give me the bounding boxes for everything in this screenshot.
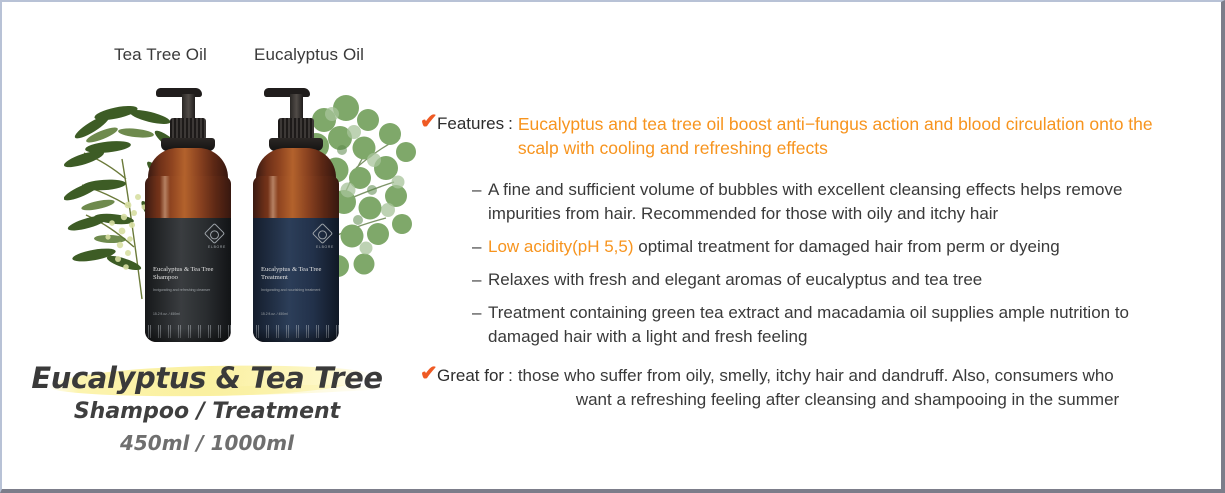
- product-subtitle: Shampoo / Treatment: [2, 396, 412, 428]
- bullet-highlight: Low acidity(pH 5,5): [488, 237, 634, 256]
- brand-name: ELBORE: [316, 245, 334, 249]
- product-visual-panel: Tea Tree Oil Eucalyptus Oil: [2, 2, 412, 487]
- pump-nozzle-icon: [156, 88, 202, 97]
- bottle-bottom-shadow: [253, 328, 339, 342]
- label-product-variant: Treatment: [261, 274, 288, 281]
- great-for-section: ✔ Great for : those who suffer from oily…: [420, 364, 1180, 412]
- list-item: – A fine and sufficient volume of bubble…: [472, 178, 1182, 226]
- bottle-treatment: ELBORE Eucalyptus & Tea Tree Treatment I…: [250, 88, 342, 343]
- caption-eucalyptus-oil: Eucalyptus Oil: [254, 45, 364, 65]
- list-item: – Relaxes with fresh and elegant aromas …: [472, 268, 1182, 292]
- bullet-dash: –: [472, 268, 488, 292]
- great-for-label: Great for: [437, 364, 504, 412]
- pump-collar: [278, 118, 314, 140]
- bullet-text: Relaxes with fresh and elegant aromas of…: [488, 268, 982, 292]
- label-description: Invigorating and refreshing cleanser: [153, 288, 210, 293]
- features-colon: :: [504, 112, 518, 160]
- product-copy-panel: ✔ Features : Eucalyptus and tea tree oil…: [417, 2, 1207, 487]
- caption-tea-tree-oil: Tea Tree Oil: [114, 45, 207, 65]
- bottle-body: ELBORE Eucalyptus & Tea Tree Shampoo Inv…: [145, 176, 231, 342]
- label-product-title: Eucalyptus & Tea Tree: [153, 265, 213, 274]
- great-for-description: those who suffer from oily, smelly, itch…: [518, 364, 1119, 412]
- features-description: Eucalyptus and tea tree oil boost anti−f…: [518, 112, 1170, 160]
- product-title: Eucalyptus & Tea Tree: [2, 360, 412, 396]
- bottle-label-treatment: ELBORE Eucalyptus & Tea Tree Treatment I…: [253, 218, 339, 342]
- bottle-label-shampoo: ELBORE Eucalyptus & Tea Tree Shampoo Inv…: [145, 218, 231, 342]
- pump-neck: [182, 94, 195, 120]
- pump-neck: [290, 94, 303, 120]
- great-for-colon: :: [504, 364, 518, 412]
- bullet-text: Low acidity(pH 5,5) optimal treatment fo…: [488, 235, 1060, 259]
- features-label: Features: [437, 112, 504, 160]
- check-icon: ✔: [420, 112, 437, 160]
- pump-nozzle-icon: [264, 88, 310, 97]
- label-product-variant: Shampoo: [153, 274, 178, 281]
- check-icon: ✔: [420, 364, 437, 412]
- bullet-dash: –: [472, 178, 488, 226]
- label-volume: 15.2 fl.oz. / 450ml: [261, 312, 288, 316]
- brand-name: ELBORE: [208, 245, 226, 249]
- pump-collar: [170, 118, 206, 140]
- bullet-text: A fine and sufficient volume of bubbles …: [488, 178, 1182, 226]
- bottle-bottom-shadow: [145, 328, 231, 342]
- brand-emblem-icon: [204, 223, 225, 244]
- features-section: ✔ Features : Eucalyptus and tea tree oil…: [420, 112, 1180, 160]
- great-for-line2: want a refreshing feeling after cleansin…: [518, 388, 1119, 412]
- list-item: – Low acidity(pH 5,5) optimal treatment …: [472, 235, 1182, 259]
- promo-banner: Tea Tree Oil Eucalyptus Oil: [0, 0, 1225, 493]
- great-for-line1: those who suffer from oily, smelly, itch…: [518, 366, 1114, 385]
- feature-bullet-list: – A fine and sufficient volume of bubble…: [472, 178, 1182, 358]
- product-name-block: Eucalyptus & Tea Tree Shampoo / Treatmen…: [2, 360, 412, 458]
- label-product-title: Eucalyptus & Tea Tree: [261, 265, 321, 274]
- bullet-text: Treatment containing green tea extract a…: [488, 301, 1182, 349]
- product-volume: 450ml / 1000ml: [2, 428, 412, 458]
- list-item: – Treatment containing green tea extract…: [472, 301, 1182, 349]
- label-description: Invigorating and nourishing treatment: [261, 288, 320, 293]
- bullet-dash: –: [472, 301, 488, 349]
- brand-emblem-icon: [312, 223, 333, 244]
- label-volume: 15.2 fl.oz. / 450ml: [153, 312, 180, 316]
- bullet-dash: –: [472, 235, 488, 259]
- bottle-body: ELBORE Eucalyptus & Tea Tree Treatment I…: [253, 176, 339, 342]
- bullet-rest: optimal treatment for damaged hair from …: [634, 237, 1060, 256]
- bottle-shampoo: ELBORE Eucalyptus & Tea Tree Shampoo Inv…: [142, 88, 234, 343]
